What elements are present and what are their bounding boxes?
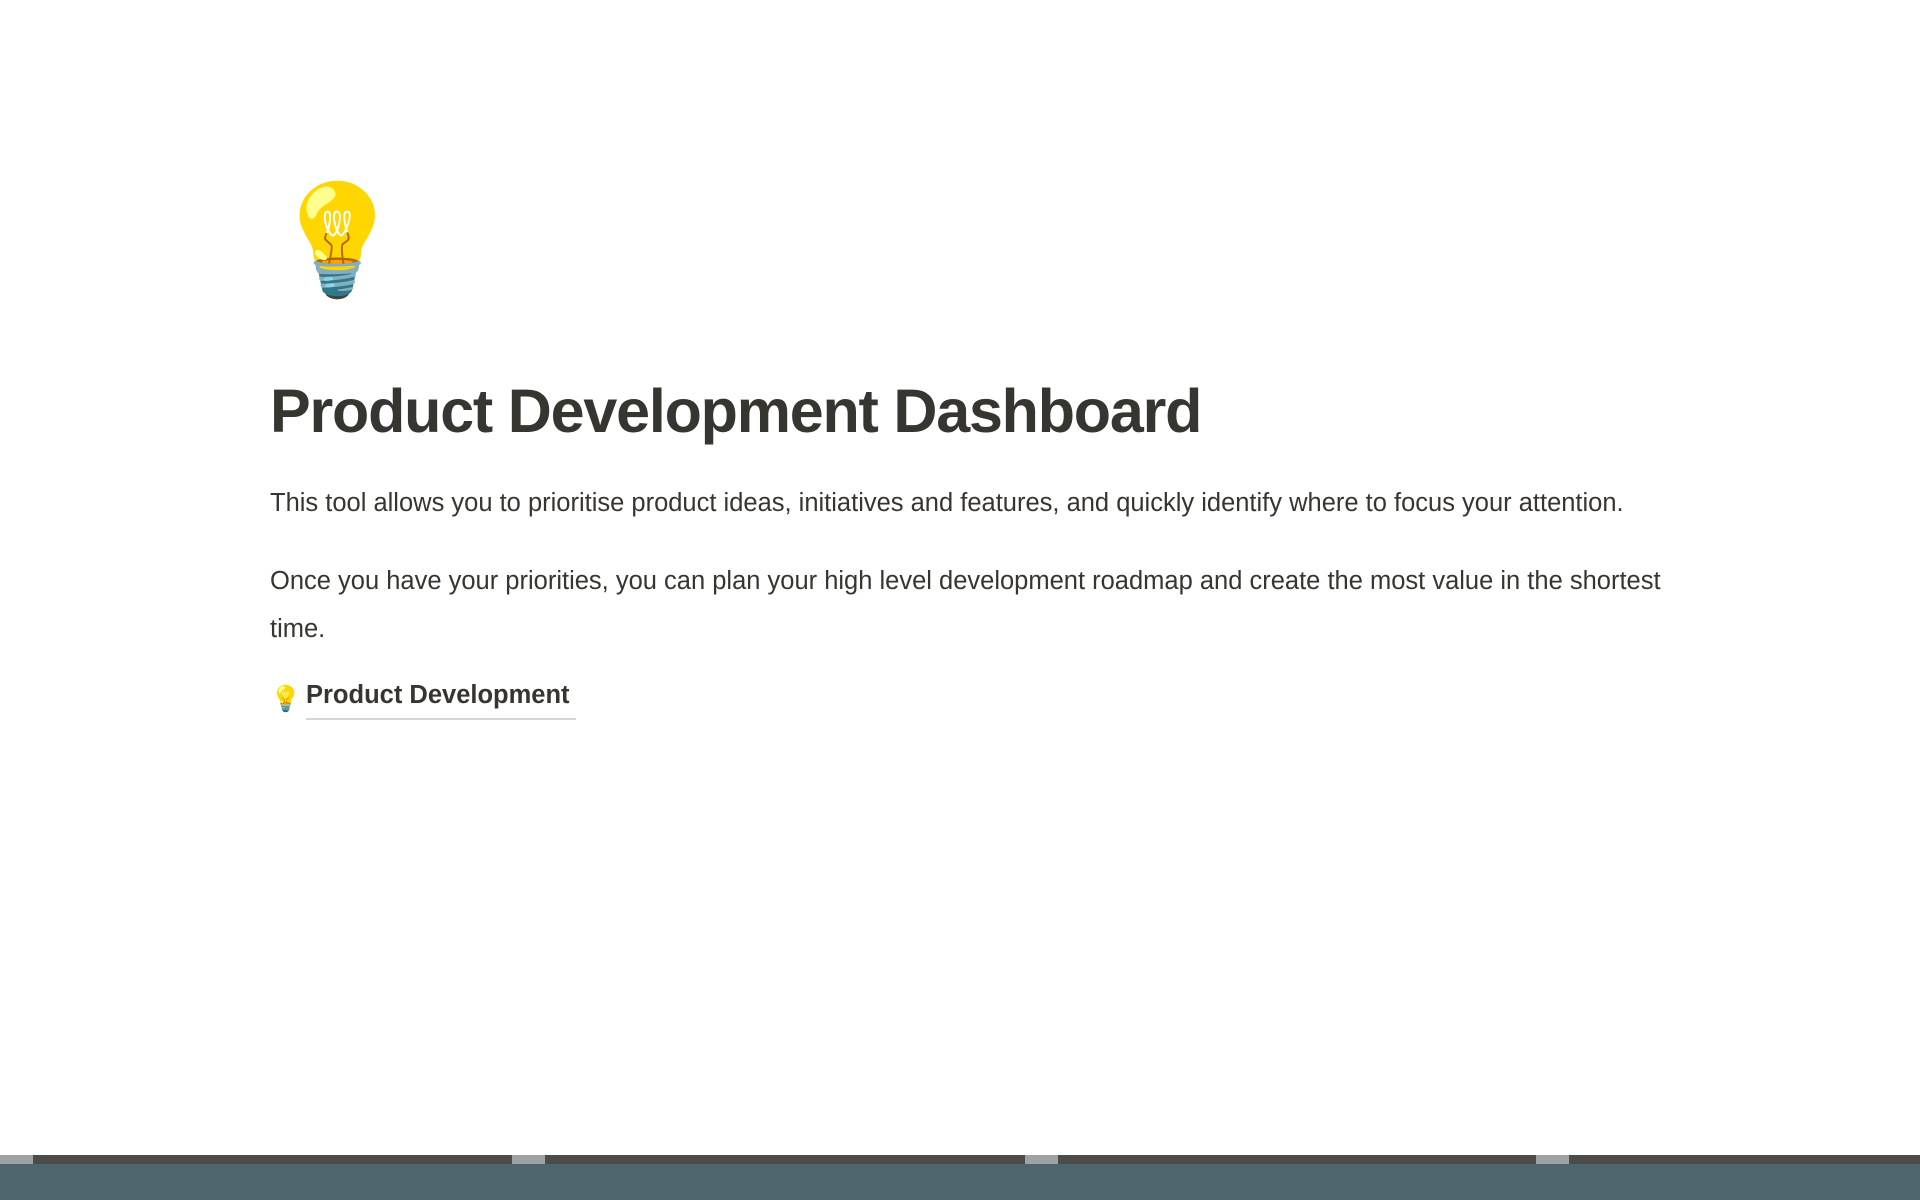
lightbulb-emoji-icon[interactable]: 💡 bbox=[270, 186, 1690, 322]
bottom-bar-divider bbox=[0, 1155, 1920, 1164]
page-link-row[interactable]: 💡 Product Development bbox=[270, 679, 1690, 719]
document-content: 💡 Product Development Dashboard This too… bbox=[270, 0, 1690, 719]
bottom-system-bar bbox=[0, 1155, 1920, 1200]
bottom-bar-handle[interactable] bbox=[1536, 1155, 1569, 1164]
bottom-bar-handle[interactable] bbox=[512, 1155, 545, 1164]
page-title[interactable]: Product Development Dashboard bbox=[270, 376, 1690, 446]
lightbulb-emoji-small-icon: 💡 bbox=[270, 687, 306, 712]
page-link-product-development[interactable]: Product Development bbox=[306, 678, 576, 720]
document-page: 💡 Product Development Dashboard This too… bbox=[0, 0, 1920, 1155]
bottom-bar-handle[interactable] bbox=[1025, 1155, 1058, 1164]
bottom-bar-handle[interactable] bbox=[0, 1155, 33, 1164]
intro-paragraph-1[interactable]: This tool allows you to prioritise produ… bbox=[270, 479, 1695, 527]
intro-paragraph-2[interactable]: Once you have your priorities, you can p… bbox=[270, 557, 1695, 653]
